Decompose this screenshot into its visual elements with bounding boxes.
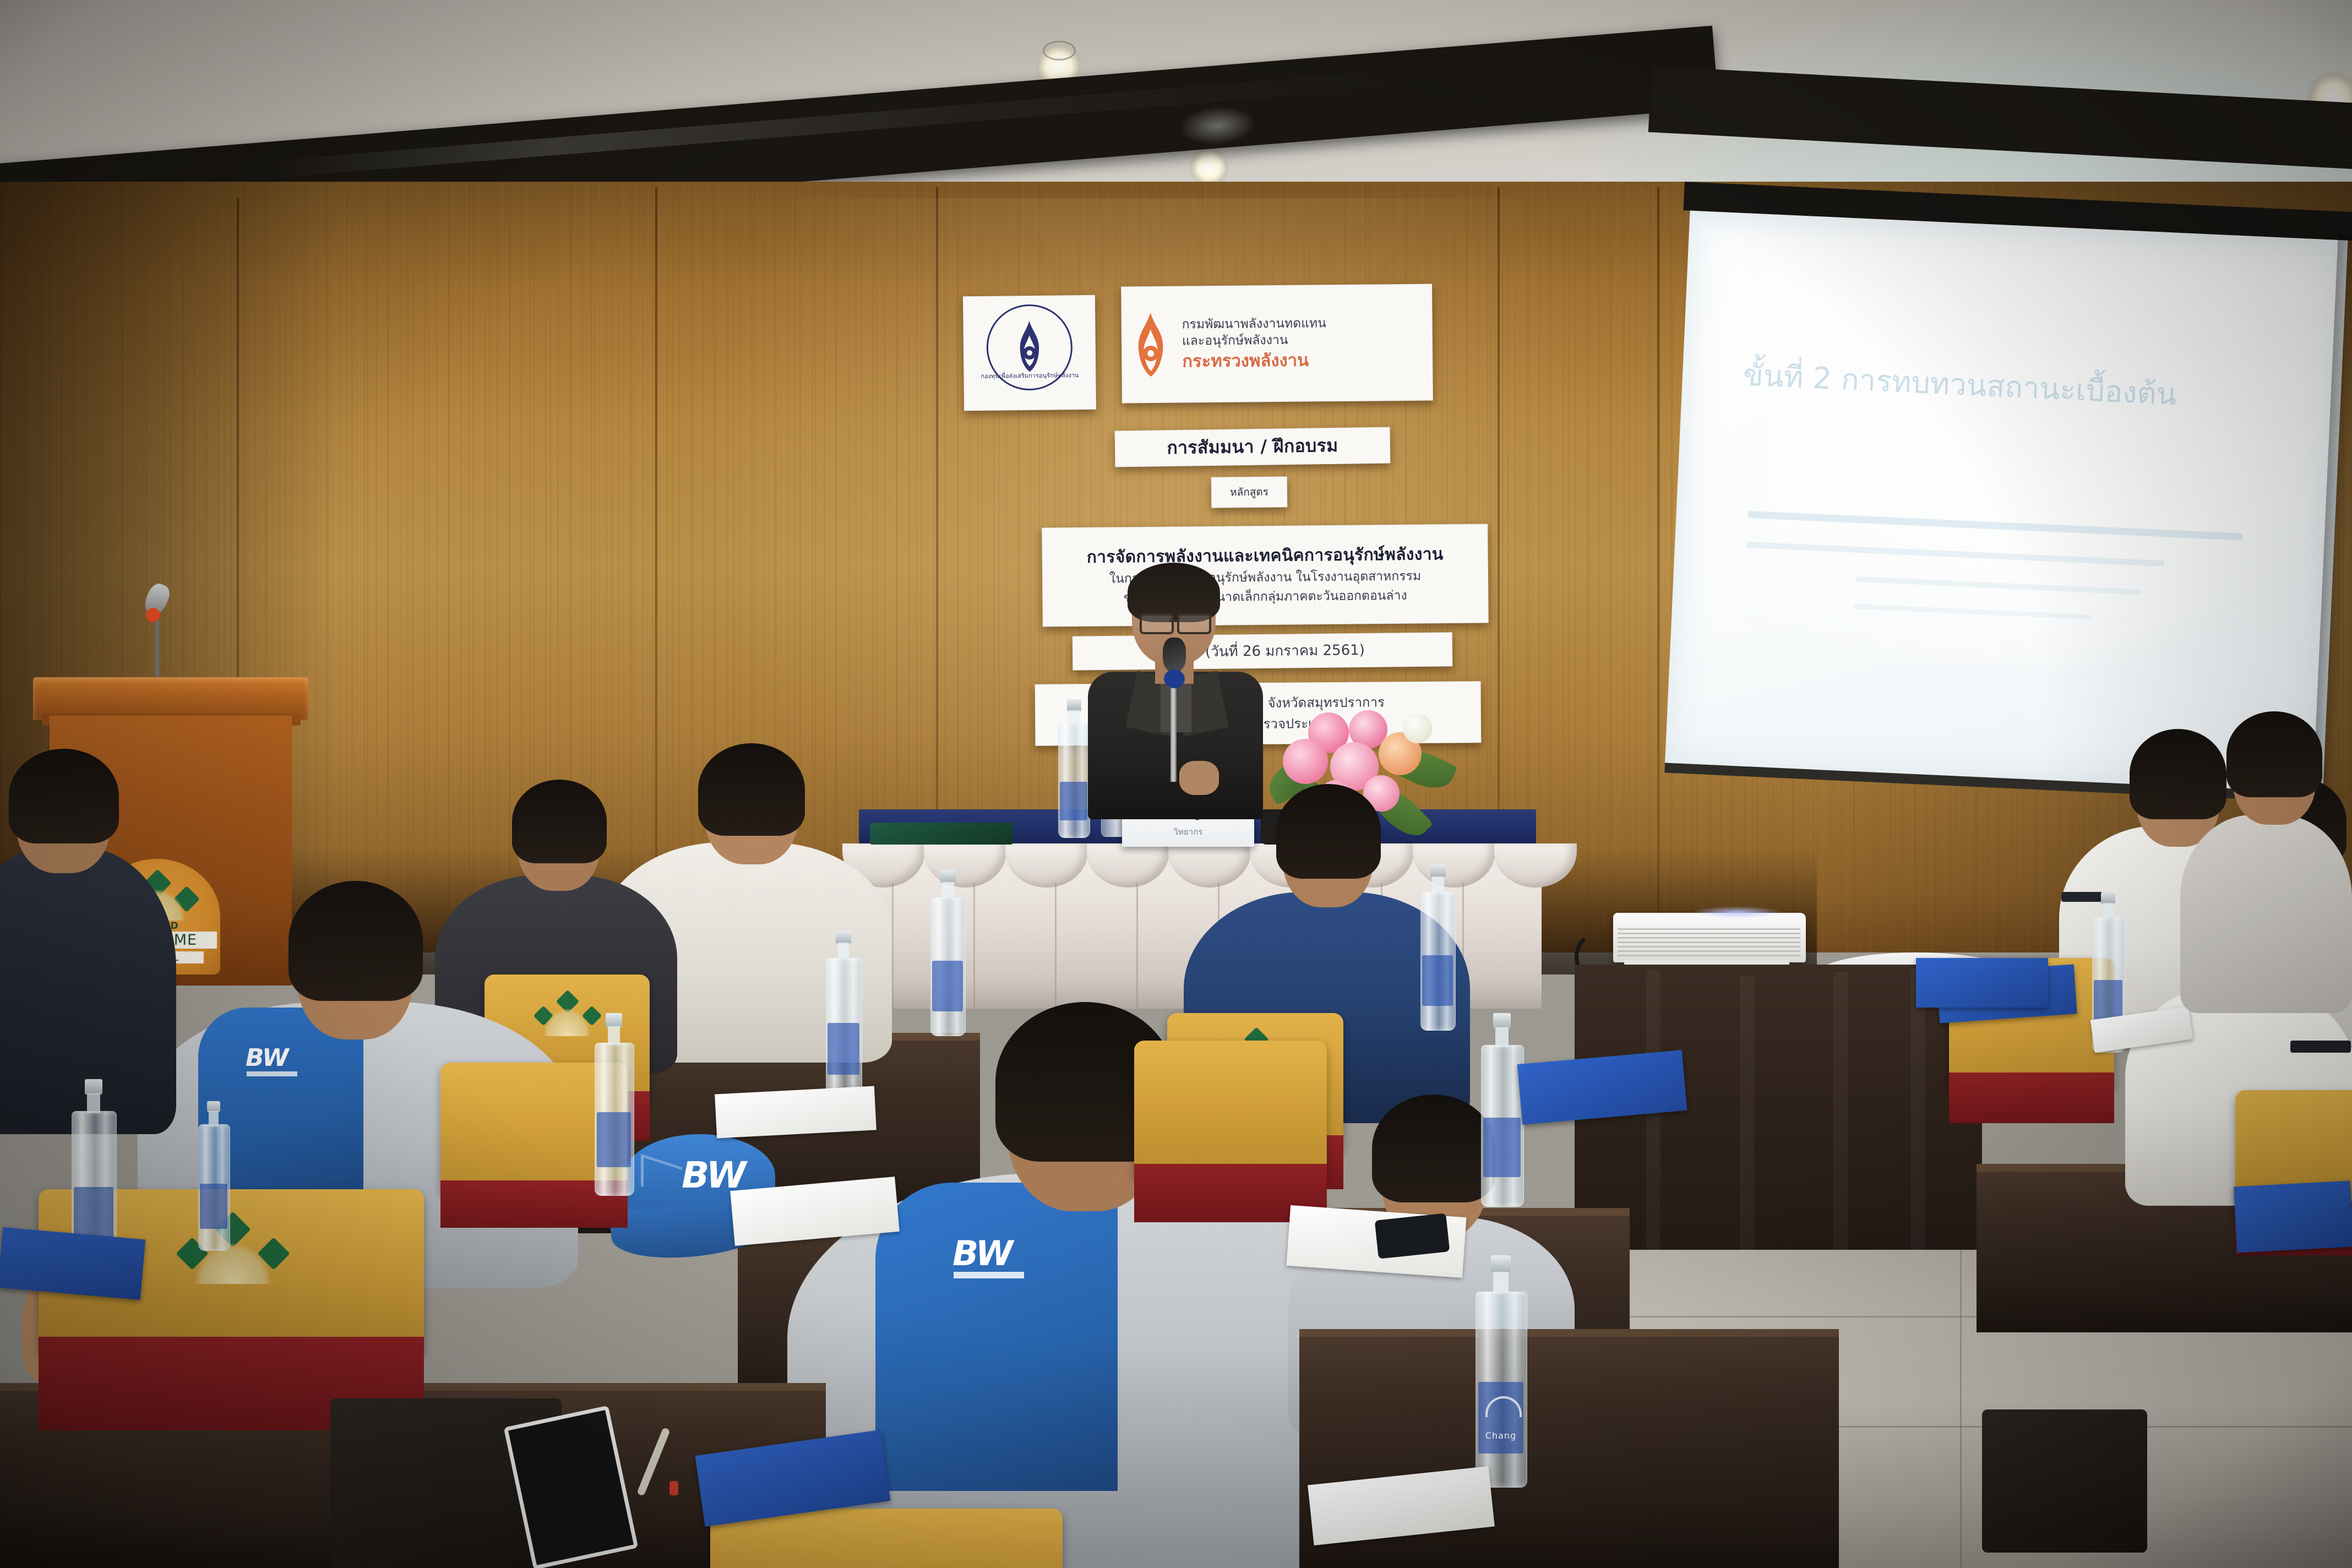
eyeglasses-icon	[1140, 613, 1174, 634]
bottle-label	[1060, 782, 1087, 820]
blue-folder	[1916, 958, 2048, 1008]
bottle-label	[827, 1023, 859, 1075]
water-bottle	[826, 930, 861, 1101]
sign-ministry: กรมพัฒนาพลังงานทดแทน และอนุรักษ์พลังงาน …	[1121, 284, 1433, 404]
bottle-neck	[87, 1093, 100, 1113]
water-bottle	[1481, 1013, 1523, 1206]
bottle-cap	[1491, 1255, 1511, 1273]
fund-logo-caption: กองทุนเพื่อส่งเสริมการอนุรักษ์พลังงาน	[974, 372, 1085, 380]
bottle-cap	[940, 870, 956, 883]
chang-brand-text: Chang	[1478, 1430, 1523, 1441]
bottle-label	[1478, 1382, 1523, 1453]
bottle-neck	[1493, 1272, 1509, 1294]
bottle-cap	[1493, 1013, 1511, 1028]
bottle-label	[1483, 1118, 1521, 1177]
bottle-cap	[836, 930, 851, 944]
eyeglasses-bridge	[1169, 620, 1178, 622]
seminar-banner-text: การสัมมนา / ฝึกอบรม	[1167, 435, 1338, 459]
bottle-cap	[2101, 892, 2115, 904]
water-bottle	[198, 1101, 229, 1250]
eyeglasses-icon	[1177, 613, 1211, 634]
attendee-hair	[1276, 784, 1381, 879]
attendee-hair	[288, 881, 423, 1001]
bottle-label	[597, 1112, 631, 1167]
attendee-hair	[1372, 1095, 1495, 1202]
bottle-label	[200, 1184, 227, 1229]
bottle-cap	[207, 1101, 220, 1112]
blue-folder	[2234, 1181, 2352, 1253]
beam-reflection	[1178, 104, 1257, 148]
skirt-swag	[1005, 843, 1088, 888]
bw-logo-sub	[954, 1272, 1024, 1278]
water-bottle	[1058, 699, 1089, 837]
sign-seminar-banner: การสัมมนา / ฝึกอบรม	[1115, 427, 1391, 467]
chair-back	[1134, 1041, 1327, 1178]
flame-logo-icon	[1010, 319, 1049, 374]
water-bottle: Chang	[1476, 1255, 1526, 1487]
microphone-ring	[1164, 669, 1185, 688]
bottle-cap	[1430, 864, 1446, 878]
bottle-cap	[85, 1079, 102, 1095]
cloth-fold	[1910, 969, 1925, 1255]
sign-course-label: หลักสูตร	[1211, 476, 1287, 508]
downlight-ring	[1043, 41, 1076, 61]
water-bottle	[1420, 864, 1455, 1030]
ministry-line-1: กรมพัฒนาพลังงานทดแทน	[1182, 315, 1425, 332]
polo-trim	[2290, 1041, 2351, 1053]
projector-vents	[1618, 928, 1800, 959]
water-bottle	[595, 1013, 633, 1195]
attendee	[2180, 705, 2352, 1013]
course-label-text: หลักสูตร	[1230, 486, 1268, 498]
skirt-swag	[1087, 843, 1169, 888]
bw-logo: BW	[246, 1044, 288, 1072]
podium-mic-stand	[155, 611, 159, 683]
wall-seam	[1657, 187, 1659, 958]
floor-tile-line	[1960, 1250, 1962, 1568]
attendee	[0, 749, 176, 1134]
microphone-windscreen	[146, 608, 160, 622]
bottle-body	[1058, 723, 1090, 838]
chair-band	[1949, 1072, 2114, 1123]
rose-white	[1403, 714, 1433, 743]
bw-logo-sub	[247, 1071, 297, 1076]
attendee-hair	[2226, 711, 2322, 797]
blue-folder	[0, 1227, 145, 1300]
bottle-cap	[606, 1013, 622, 1027]
microphone-icon	[1163, 638, 1186, 672]
bottle-label	[1422, 955, 1453, 1006]
sign-fund-logo: กองทุนเพื่อส่งเสริมการอนุรักษ์พลังงาน	[963, 295, 1096, 411]
projector-lens-glow	[1693, 906, 1781, 918]
bag	[1982, 1409, 2147, 1553]
paper-sheet	[715, 1086, 876, 1138]
attendee-hair	[698, 743, 805, 836]
bottle-cap	[1067, 699, 1081, 711]
ministry-line-2: และอนุรักษ์พลังงาน	[1182, 331, 1425, 349]
meeting-room-photo: ขั้นที่ 2 การทบทวนสถานะเบื้องต้น กองทุนเ…	[0, 0, 2352, 1568]
bottle-neck	[1495, 1027, 1509, 1047]
attendee-hair	[512, 780, 607, 863]
attendee-hair	[9, 749, 119, 843]
bw-logo: BW	[952, 1233, 1012, 1273]
jacket-blue-panel	[875, 1183, 1118, 1491]
cloth-fold	[1833, 972, 1848, 1281]
flame-logo-icon	[1129, 311, 1172, 379]
cloth-fold	[1740, 976, 1754, 1295]
course-title-line-1: การจัดการพลังงานและเทคนิคการอนุรักษ์พลัง…	[1087, 545, 1444, 567]
table-edge	[1299, 1329, 1839, 1337]
ministry-line-3: กระทรวงพลังงาน	[1182, 349, 1425, 371]
attendee-torso	[2180, 815, 2352, 1013]
banquet-chair	[1134, 1041, 1327, 1222]
smartphone	[1375, 1213, 1450, 1259]
pen-tip	[669, 1481, 678, 1495]
bottle-neck	[608, 1026, 620, 1045]
